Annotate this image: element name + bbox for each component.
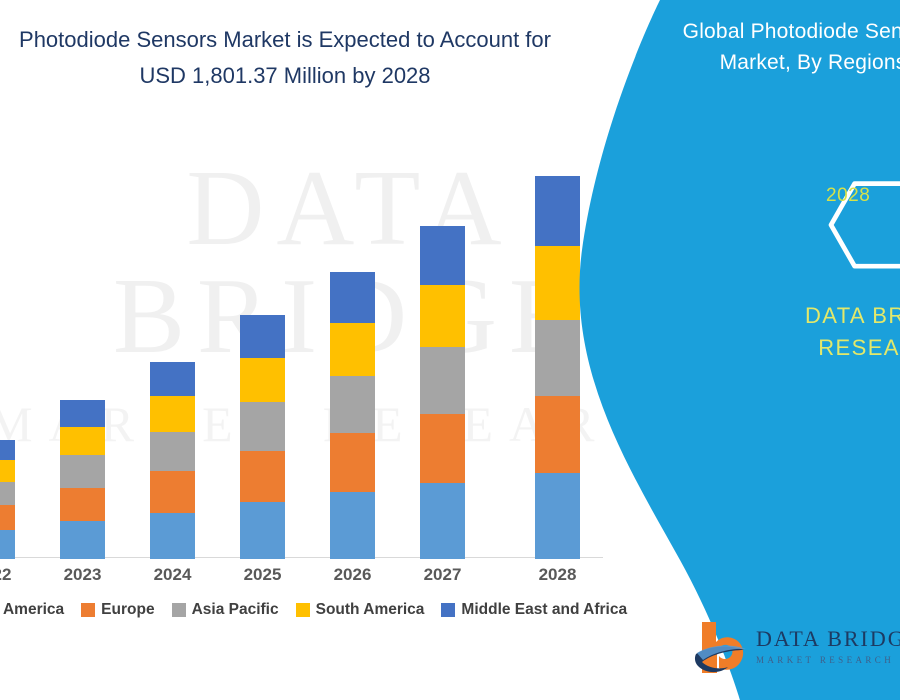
panel-brand-line-2: RESEARCH [720, 332, 900, 364]
panel-brand: DATA BRIDGE RESEARCH [648, 300, 900, 364]
legend-swatch-icon [296, 603, 310, 617]
bar-segment[interactable] [150, 396, 195, 432]
bar-2027[interactable] [420, 226, 465, 559]
x-axis-label-2027: 2027 [408, 565, 478, 585]
bar-segment[interactable] [0, 505, 15, 530]
chart-plot-area [0, 140, 612, 560]
bar-segment[interactable] [60, 455, 105, 487]
bar-segment[interactable] [150, 513, 195, 559]
bar-segment[interactable] [330, 272, 375, 323]
bar-segment[interactable] [330, 433, 375, 493]
logo-subtitle: MARKET RESEARCH [756, 655, 900, 665]
chart-legend: North AmericaEuropeAsia PacificSouth Ame… [0, 598, 595, 622]
bar-segment[interactable] [0, 440, 15, 460]
bar-segment[interactable] [240, 358, 285, 402]
legend-label: Asia Pacific [192, 601, 279, 619]
legend-item-south-america[interactable]: South America [296, 601, 425, 619]
bar-segment[interactable] [0, 460, 15, 481]
bar-segment[interactable] [420, 285, 465, 347]
panel-title-line-1: Global Photodiode Sensors [648, 16, 900, 47]
legend-item-europe[interactable]: Europe [81, 601, 154, 619]
bar-segment[interactable] [240, 315, 285, 358]
bar-segment[interactable] [420, 226, 465, 286]
legend-item-asia-pacific[interactable]: Asia Pacific [172, 601, 279, 619]
bar-segment[interactable] [0, 530, 15, 559]
legend-item-north-america[interactable]: North America [0, 601, 64, 619]
bar-2022[interactable] [0, 440, 15, 559]
x-axis-label-2026: 2026 [318, 565, 388, 585]
bar-segment[interactable] [330, 323, 375, 375]
panel-title-line-2: Market, By Regions [648, 47, 900, 78]
legend-swatch-icon [172, 603, 186, 617]
bar-segment[interactable] [330, 376, 375, 433]
bar-segment[interactable] [240, 402, 285, 451]
chart-title: Photodiode Sensors Market is Expected to… [0, 22, 600, 94]
bar-segment[interactable] [420, 414, 465, 483]
bar-segment[interactable] [420, 483, 465, 559]
legend-label: North America [0, 601, 64, 619]
bar-2026[interactable] [330, 272, 375, 559]
bar-segment[interactable] [150, 432, 195, 471]
legend-label: South America [316, 601, 425, 619]
hexagon-label-2028: 2028 [826, 185, 870, 207]
data-bridge-logo: DATA BRIDGE MARKET RESEARCH [694, 620, 900, 682]
logo-text: DATA BRIDGE MARKET RESEARCH [756, 626, 900, 665]
chart-title-line-1: Photodiode Sensors Market is Expected to… [0, 22, 600, 58]
chart-title-line-2: USD 1,801.37 Million by 2028 [0, 58, 600, 94]
bar-segment[interactable] [330, 492, 375, 559]
bar-segment[interactable] [60, 427, 105, 456]
bar-2023[interactable] [60, 400, 105, 559]
panel-brand-line-1: DATA BRIDGE [720, 300, 900, 332]
bar-segment[interactable] [150, 362, 195, 397]
bar-segment[interactable] [0, 482, 15, 506]
x-axis-labels: 2022202320242025202620272028 [0, 565, 612, 591]
bar-segment[interactable] [150, 471, 195, 513]
panel-title: Global Photodiode Sensors Market, By Reg… [648, 16, 900, 78]
bar-segment[interactable] [60, 488, 105, 521]
bar-2025[interactable] [240, 315, 285, 559]
hexagon-group: 2028 2 [780, 120, 900, 280]
legend-label: Europe [101, 601, 154, 619]
legend-swatch-icon [441, 603, 455, 617]
x-axis-label-2023: 2023 [48, 565, 118, 585]
legend-swatch-icon [81, 603, 95, 617]
bar-segment[interactable] [60, 521, 105, 559]
bar-segment[interactable] [240, 451, 285, 502]
x-axis-label-2024: 2024 [138, 565, 208, 585]
bar-2024[interactable] [150, 362, 195, 560]
logo-mark-icon [694, 620, 754, 676]
x-axis-label-2022: 2022 [0, 565, 28, 585]
logo-name: DATA BRIDGE [756, 626, 900, 652]
x-axis-label-2025: 2025 [228, 565, 298, 585]
bar-segment[interactable] [420, 347, 465, 414]
bar-segment[interactable] [240, 502, 285, 559]
infographic-canvas: DATA BRIDGE MARKET RESEARCH Photodiode S… [0, 0, 900, 700]
bar-segment[interactable] [60, 400, 105, 427]
